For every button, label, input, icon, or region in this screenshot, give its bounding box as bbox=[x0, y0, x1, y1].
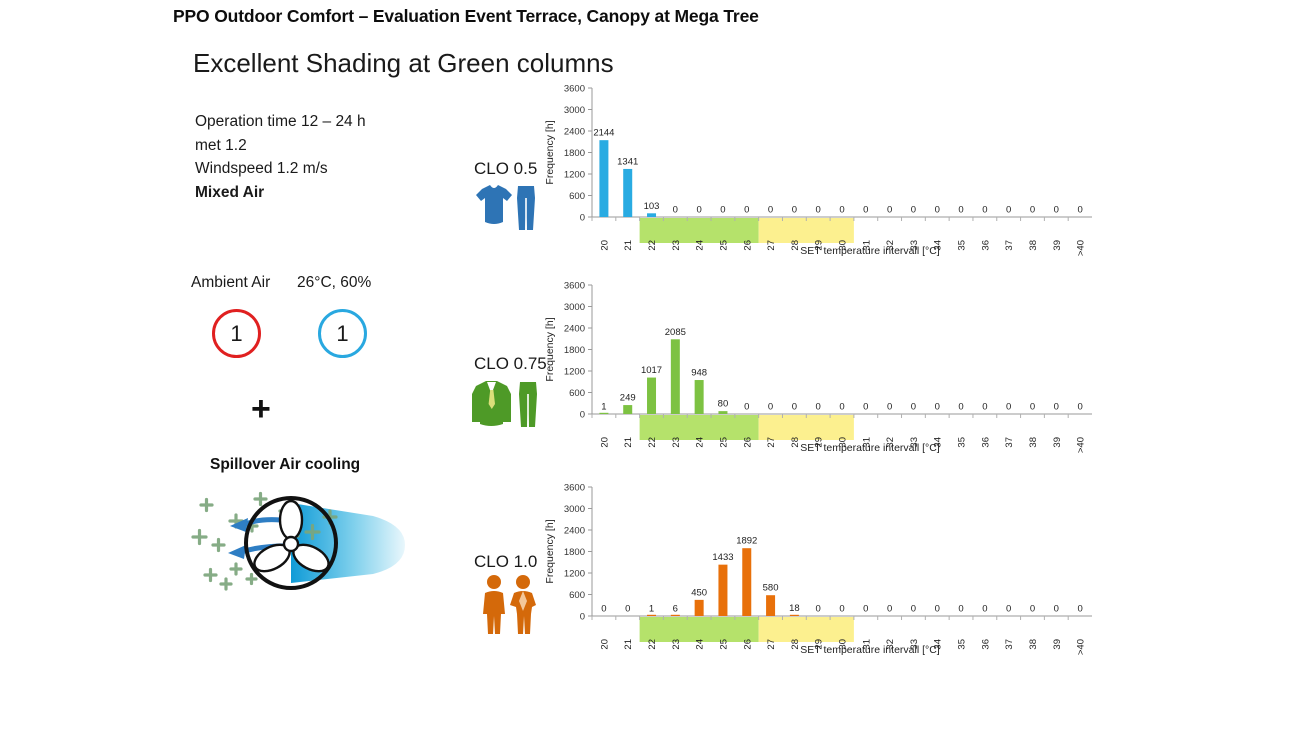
person-woman-icon bbox=[510, 575, 536, 634]
y-tick-label: 2400 bbox=[564, 324, 585, 335]
bar-value-label: 0 bbox=[792, 205, 797, 216]
x-tick-label: 37 bbox=[1004, 240, 1015, 251]
y-tick-label: 1800 bbox=[564, 345, 585, 356]
x-tick-label: 25 bbox=[718, 437, 729, 448]
y-tick-label: 3600 bbox=[564, 483, 585, 494]
x-tick-label: 22 bbox=[647, 240, 658, 251]
bar-value-label: 0 bbox=[911, 205, 916, 216]
bar-value-label: 0 bbox=[816, 205, 821, 216]
bar-value-label: 0 bbox=[863, 604, 868, 615]
x-axis-title: SET temperature intervall [°C] bbox=[800, 644, 939, 656]
x-axis-title: SET temperature intervall [°C] bbox=[800, 245, 939, 257]
bar-28 bbox=[790, 615, 799, 616]
bar-value-label: 249 bbox=[620, 393, 636, 404]
y-tick-label: 1200 bbox=[564, 367, 585, 378]
x-tick-label: 25 bbox=[718, 240, 729, 251]
operation-info-block: Operation time 12 – 24 h met 1.2 Windspe… bbox=[195, 110, 366, 204]
bar-value-label: 1017 bbox=[641, 365, 662, 376]
bar-value-label: 6 bbox=[673, 603, 678, 614]
x-tick-label: 24 bbox=[695, 639, 706, 650]
bar-value-label: 0 bbox=[768, 205, 773, 216]
x-tick-label: 37 bbox=[1004, 639, 1015, 650]
comfort-band-yellow bbox=[759, 218, 854, 243]
bar-25 bbox=[718, 565, 727, 616]
bar-value-label: 0 bbox=[982, 402, 987, 413]
x-tick-label: 24 bbox=[695, 437, 706, 448]
bar-value-label: 1 bbox=[649, 603, 654, 614]
x-tick-label: 24 bbox=[695, 240, 706, 251]
x-tick-label: 39 bbox=[1052, 240, 1063, 251]
bar-value-label: 1433 bbox=[712, 552, 733, 563]
x-tick-label: 36 bbox=[980, 240, 991, 251]
x-tick-label: 21 bbox=[623, 240, 634, 251]
bar-value-label: 0 bbox=[911, 402, 916, 413]
y-axis-title: Frequency [h] bbox=[544, 120, 556, 184]
x-tick-label: 28 bbox=[790, 240, 801, 251]
tshirt-icon bbox=[476, 185, 512, 224]
y-tick-label: 3600 bbox=[564, 281, 585, 292]
bar-value-label: 0 bbox=[744, 205, 749, 216]
bar-value-label: 0 bbox=[958, 402, 963, 413]
x-tick-label: 25 bbox=[718, 639, 729, 650]
bar-value-label: 2144 bbox=[593, 128, 614, 139]
x-tick-label: 28 bbox=[790, 437, 801, 448]
bar-value-label: 0 bbox=[1054, 205, 1059, 216]
bar-value-label: 1 bbox=[601, 401, 606, 412]
x-tick-label: 27 bbox=[766, 437, 777, 448]
y-tick-label: 3000 bbox=[564, 302, 585, 313]
y-tick-label: 3000 bbox=[564, 105, 585, 116]
x-tick-label: >40 bbox=[1076, 437, 1087, 453]
bar-value-label: 0 bbox=[1006, 402, 1011, 413]
y-axis-title: Frequency [h] bbox=[544, 519, 556, 583]
bar-value-label: 0 bbox=[863, 402, 868, 413]
bar-value-label: 0 bbox=[935, 604, 940, 615]
bar-24 bbox=[695, 600, 704, 616]
clo-label-0-5: CLO 0.5 bbox=[474, 159, 537, 179]
chart-canvas-clo-1-0: 060012001800240030003600Frequency [h]020… bbox=[540, 479, 1100, 657]
chart-canvas-clo-0-5: 060012001800240030003600Frequency [h]214… bbox=[540, 80, 1100, 258]
ambient-air-count-value: 1 bbox=[230, 321, 242, 347]
y-tick-label: 600 bbox=[569, 388, 585, 399]
bar-value-label: 0 bbox=[911, 604, 916, 615]
bar-value-label: 0 bbox=[720, 205, 725, 216]
bar-value-label: 0 bbox=[1077, 205, 1082, 216]
bar-value-label: 0 bbox=[696, 205, 701, 216]
bar-value-label: 0 bbox=[1077, 604, 1082, 615]
chart-clo-1-0: 060012001800240030003600Frequency [h]020… bbox=[540, 479, 1100, 657]
bar-value-label: 18 bbox=[789, 603, 800, 614]
x-tick-label: 21 bbox=[623, 639, 634, 650]
spillover-fan-illustration bbox=[183, 483, 408, 598]
x-tick-label: 39 bbox=[1052, 437, 1063, 448]
bar-value-label: 103 bbox=[644, 201, 660, 212]
comfort-band-green bbox=[640, 617, 759, 642]
bar-20 bbox=[599, 413, 608, 414]
y-tick-label: 1800 bbox=[564, 148, 585, 159]
bar-value-label: 0 bbox=[958, 205, 963, 216]
bar-value-label: 0 bbox=[1030, 402, 1035, 413]
bar-value-label: 0 bbox=[958, 604, 963, 615]
x-tick-label: 35 bbox=[957, 437, 968, 448]
x-tick-label: 39 bbox=[1052, 639, 1063, 650]
info-line-mixed-air: Mixed Air bbox=[195, 181, 366, 205]
x-tick-label: 36 bbox=[980, 639, 991, 650]
bar-value-label: 0 bbox=[816, 402, 821, 413]
bar-26 bbox=[742, 548, 751, 616]
bar-22 bbox=[647, 615, 656, 616]
bar-value-label: 0 bbox=[792, 402, 797, 413]
clothing-icon-jacket-trousers bbox=[470, 378, 540, 435]
bar-value-label: 1341 bbox=[617, 156, 638, 167]
bar-value-label: 80 bbox=[718, 399, 729, 410]
bar-24 bbox=[695, 380, 704, 414]
bar-value-label: 0 bbox=[887, 205, 892, 216]
x-tick-label: 35 bbox=[957, 240, 968, 251]
bar-value-label: 948 bbox=[691, 368, 707, 379]
bar-value-label: 0 bbox=[1006, 205, 1011, 216]
chart-clo-0-5: 060012001800240030003600Frequency [h]214… bbox=[540, 80, 1100, 258]
person-man-icon bbox=[483, 575, 505, 634]
x-tick-label: 20 bbox=[599, 240, 610, 251]
bar-value-label: 0 bbox=[1054, 402, 1059, 413]
x-tick-label: 27 bbox=[766, 240, 777, 251]
bar-value-label: 0 bbox=[839, 604, 844, 615]
ambient-air-count-badge: 1 bbox=[212, 309, 261, 358]
clothing-icon-tshirt-trousers bbox=[472, 182, 538, 239]
page-subtitle: Excellent Shading at Green columns bbox=[193, 48, 614, 79]
bar-value-label: 580 bbox=[763, 583, 779, 594]
y-tick-label: 600 bbox=[569, 191, 585, 202]
y-tick-label: 2400 bbox=[564, 526, 585, 537]
chart-canvas-clo-0-75: 060012001800240030003600Frequency [h]120… bbox=[540, 277, 1100, 455]
bar-21 bbox=[623, 169, 632, 217]
bar-value-label: 0 bbox=[935, 402, 940, 413]
y-tick-label: 1200 bbox=[564, 170, 585, 181]
bar-value-label: 0 bbox=[1030, 205, 1035, 216]
bar-value-label: 0 bbox=[982, 205, 987, 216]
chart-clo-0-75: 060012001800240030003600Frequency [h]120… bbox=[540, 277, 1100, 455]
bar-value-label: 0 bbox=[768, 402, 773, 413]
trousers-icon bbox=[517, 186, 535, 230]
comfort-band-yellow bbox=[759, 415, 854, 440]
bar-value-label: 0 bbox=[935, 205, 940, 216]
bar-value-label: 0 bbox=[839, 205, 844, 216]
y-tick-label: 3600 bbox=[564, 84, 585, 95]
spillover-air-cooling-label: Spillover Air cooling bbox=[210, 456, 360, 474]
bar-value-label: 0 bbox=[673, 205, 678, 216]
bar-23 bbox=[671, 339, 680, 414]
y-tick-label: 0 bbox=[580, 410, 585, 421]
bar-value-label: 0 bbox=[1054, 604, 1059, 615]
x-tick-label: 22 bbox=[647, 639, 658, 650]
bar-value-label: 0 bbox=[625, 604, 630, 615]
bar-22 bbox=[647, 213, 656, 217]
info-line-met: met 1.2 bbox=[195, 134, 366, 158]
bar-23 bbox=[671, 615, 680, 616]
trousers-icon bbox=[519, 382, 537, 427]
info-line-windspeed: Windspeed 1.2 m/s bbox=[195, 157, 366, 181]
x-tick-label: 26 bbox=[742, 240, 753, 251]
bar-value-label: 1892 bbox=[736, 536, 757, 547]
bar-27 bbox=[766, 595, 775, 616]
bar-value-label: 2085 bbox=[665, 327, 686, 338]
bar-20 bbox=[599, 140, 608, 217]
x-tick-label: 23 bbox=[671, 639, 682, 650]
bar-value-label: 0 bbox=[1030, 604, 1035, 615]
x-tick-label: 26 bbox=[742, 639, 753, 650]
bar-value-label: 0 bbox=[982, 604, 987, 615]
x-tick-label: 26 bbox=[742, 437, 753, 448]
comfort-band-green bbox=[640, 218, 759, 243]
x-tick-label: 38 bbox=[1028, 437, 1039, 448]
y-tick-label: 2400 bbox=[564, 127, 585, 138]
bar-value-label: 0 bbox=[1006, 604, 1011, 615]
y-axis-title: Frequency [h] bbox=[544, 317, 556, 381]
bar-value-label: 0 bbox=[887, 402, 892, 413]
bar-value-label: 0 bbox=[1077, 402, 1082, 413]
y-tick-label: 1800 bbox=[564, 547, 585, 558]
clothing-icon-two-people-suit bbox=[478, 574, 542, 641]
plus-icon: + bbox=[251, 392, 271, 426]
x-tick-label: 35 bbox=[957, 639, 968, 650]
x-tick-label: 23 bbox=[671, 240, 682, 251]
y-tick-label: 3000 bbox=[564, 504, 585, 515]
bar-value-label: 0 bbox=[887, 604, 892, 615]
x-tick-label: 38 bbox=[1028, 639, 1039, 650]
y-tick-label: 600 bbox=[569, 590, 585, 601]
ambient-condition-label: 26°C, 60% bbox=[297, 274, 371, 292]
slide-root: PPO Outdoor Comfort – Evaluation Event T… bbox=[0, 0, 1300, 731]
x-tick-label: 36 bbox=[980, 437, 991, 448]
info-line-operation-time: Operation time 12 – 24 h bbox=[195, 110, 366, 134]
x-tick-label: 22 bbox=[647, 437, 658, 448]
bar-value-label: 450 bbox=[691, 587, 707, 598]
bar-value-label: 0 bbox=[839, 402, 844, 413]
page-title: PPO Outdoor Comfort – Evaluation Event T… bbox=[173, 6, 759, 27]
x-tick-label: 20 bbox=[599, 437, 610, 448]
x-tick-label: 28 bbox=[790, 639, 801, 650]
jacket-icon bbox=[472, 381, 511, 426]
x-tick-label: >40 bbox=[1076, 240, 1087, 256]
x-tick-label: 27 bbox=[766, 639, 777, 650]
bar-21 bbox=[623, 405, 632, 414]
x-axis-title: SET temperature intervall [°C] bbox=[800, 442, 939, 454]
x-tick-label: 23 bbox=[671, 437, 682, 448]
y-tick-label: 0 bbox=[580, 612, 585, 623]
x-tick-label: 20 bbox=[599, 639, 610, 650]
clo-label-1-0: CLO 1.0 bbox=[474, 552, 537, 572]
y-tick-label: 0 bbox=[580, 213, 585, 224]
bar-value-label: 0 bbox=[816, 604, 821, 615]
bar-value-label: 0 bbox=[744, 402, 749, 413]
x-tick-label: 21 bbox=[623, 437, 634, 448]
x-tick-label: 37 bbox=[1004, 437, 1015, 448]
x-tick-label: >40 bbox=[1076, 639, 1087, 655]
ambient-condition-count-value: 1 bbox=[336, 321, 348, 347]
y-tick-label: 1200 bbox=[564, 569, 585, 580]
clo-label-0-75: CLO 0.75 bbox=[474, 354, 547, 374]
comfort-band-green bbox=[640, 415, 759, 440]
ambient-air-label: Ambient Air bbox=[191, 274, 270, 292]
comfort-band-yellow bbox=[759, 617, 854, 642]
x-tick-label: 38 bbox=[1028, 240, 1039, 251]
bar-22 bbox=[647, 378, 656, 414]
bar-value-label: 0 bbox=[863, 205, 868, 216]
bar-value-label: 0 bbox=[601, 604, 606, 615]
bar-25 bbox=[718, 411, 727, 414]
ambient-condition-count-badge: 1 bbox=[318, 309, 367, 358]
